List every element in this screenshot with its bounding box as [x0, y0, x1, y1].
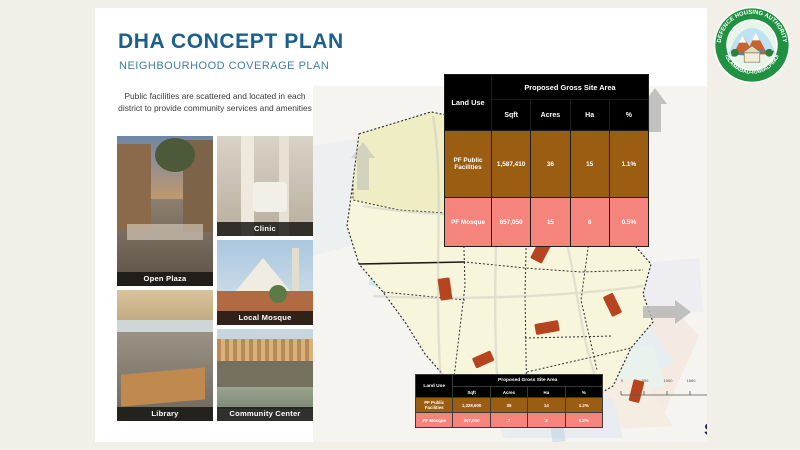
table-row: PF Mosque 657,050 15 6 0.5%: [445, 198, 649, 247]
small-cell-pct: 1.2%: [565, 398, 602, 413]
small-cell-land-use: PF Public Facilities: [416, 398, 453, 413]
summary-table-main: Land Use Proposed Gross Site Area Sqft A…: [444, 74, 649, 247]
main-cell-pct: 1.1%: [609, 131, 648, 198]
main-cell-ha: 15: [570, 131, 609, 198]
small-table-head: Land Use Proposed Gross Site Area Sqft A…: [416, 375, 603, 398]
main-col-pct: %: [609, 100, 648, 131]
main-cell-pct: 0.5%: [609, 198, 648, 247]
page-title: DHA CONCEPT PLAN: [118, 30, 344, 54]
main-col-sqft: Sqft: [492, 100, 531, 131]
main-col-ha: Ha: [570, 100, 609, 131]
main-col-land-use: Land Use: [445, 75, 492, 131]
summary-table-small: Land Use Proposed Gross Site Area Sqft A…: [415, 374, 603, 428]
main-col-group: Proposed Gross Site Area: [492, 75, 649, 100]
table-row: PF Public Facilities 1,328,600 35 14 1.2…: [416, 398, 603, 413]
logo-tree: [731, 49, 739, 57]
main-cell-land-use: PF Public Facilities: [445, 131, 492, 198]
main-cell-land-use: PF Mosque: [445, 198, 492, 247]
scale-bar: [620, 390, 707, 397]
small-col-land-use: Land Use: [416, 375, 453, 398]
photo-open-plaza: Open Plaza: [117, 136, 213, 286]
photo-caption: Local Mosque: [217, 311, 313, 326]
scale-label: 1000: [664, 378, 673, 383]
scale-label: 0: [621, 378, 623, 383]
table-row: PF Public Facilities 1,587,410 36 15 1.1…: [445, 131, 649, 198]
logo-tree-2: [765, 49, 773, 57]
main-cell-acres: 36: [531, 131, 570, 198]
small-cell-land-use: PF Mosque: [416, 413, 453, 428]
community-pergola: [217, 339, 313, 361]
small-table-body: PF Public Facilities 1,328,600 35 14 1.2…: [416, 398, 603, 428]
main-table-body: PF Public Facilities 1,587,410 36 15 1.1…: [445, 131, 649, 247]
photo-caption: Clinic: [217, 222, 313, 237]
description-text: Public facilities are scattered and loca…: [117, 90, 313, 114]
photo-local-mosque: Local Mosque: [217, 240, 313, 325]
plaza-buildings: [117, 144, 151, 230]
small-cell-ha: 3: [528, 413, 565, 428]
small-cell-sqft: 1,328,600: [453, 398, 490, 413]
logo-house: [744, 53, 760, 62]
small-col-acres: Acres: [490, 387, 527, 398]
clinic-people: [253, 182, 287, 212]
photo-library: Library: [117, 290, 213, 421]
library-windows: [117, 320, 213, 332]
table-row: PF Mosque 307,000 7 3 0.2%: [416, 413, 603, 428]
photo-caption: Community Center: [217, 407, 313, 422]
small-col-group: Proposed Gross Site Area: [453, 375, 603, 387]
main-cell-sqft: 657,050: [492, 198, 531, 247]
small-cell-acres: 35: [490, 398, 527, 413]
page-subtitle: NEIGHBOURHOOD COVERAGE PLAN: [119, 60, 329, 72]
main-cell-sqft: 1,587,410: [492, 131, 531, 198]
small-cell-pct: 0.2%: [565, 413, 602, 428]
sj-logo-mark: SJ: [704, 420, 707, 440]
mosque-palm: [269, 285, 287, 303]
small-col-pct: %: [565, 387, 602, 398]
scale-bar-labels: 0 500 1000 1500 2000 2500m: [620, 378, 707, 386]
small-cell-ha: 14: [528, 398, 565, 413]
sj-logo: SJ building cities shaping lives: [704, 420, 707, 442]
main-cell-ha: 6: [570, 198, 609, 247]
photo-clinic: Clinic: [217, 136, 313, 236]
mosque-minaret: [292, 248, 299, 292]
photo-grid: Open Plaza Clinic Local Mosque Library: [117, 136, 313, 421]
small-col-sqft: Sqft: [453, 387, 490, 398]
plaza-tree: [155, 138, 195, 172]
main-col-acres: Acres: [531, 100, 570, 131]
small-cell-sqft: 307,000: [453, 413, 490, 428]
photo-community-center: Community Center: [217, 329, 313, 421]
photo-caption: Library: [117, 407, 213, 422]
photo-caption: Open Plaza: [117, 272, 213, 287]
dha-logo: DEFENCE HOUSING AUTHORITY ISLAMABAD-RAWA…: [713, 6, 791, 84]
scale-label: 1500: [687, 378, 696, 383]
scale-label: 500: [642, 378, 649, 383]
small-cell-acres: 7: [490, 413, 527, 428]
main-table-head: Land Use Proposed Gross Site Area Sqft A…: [445, 75, 649, 131]
plaza-crowd: [127, 224, 203, 240]
small-col-ha: Ha: [528, 387, 565, 398]
main-cell-acres: 15: [531, 198, 570, 247]
map-scale-and-north: 0 500 1000 1500 2000 2500m: [620, 378, 707, 408]
